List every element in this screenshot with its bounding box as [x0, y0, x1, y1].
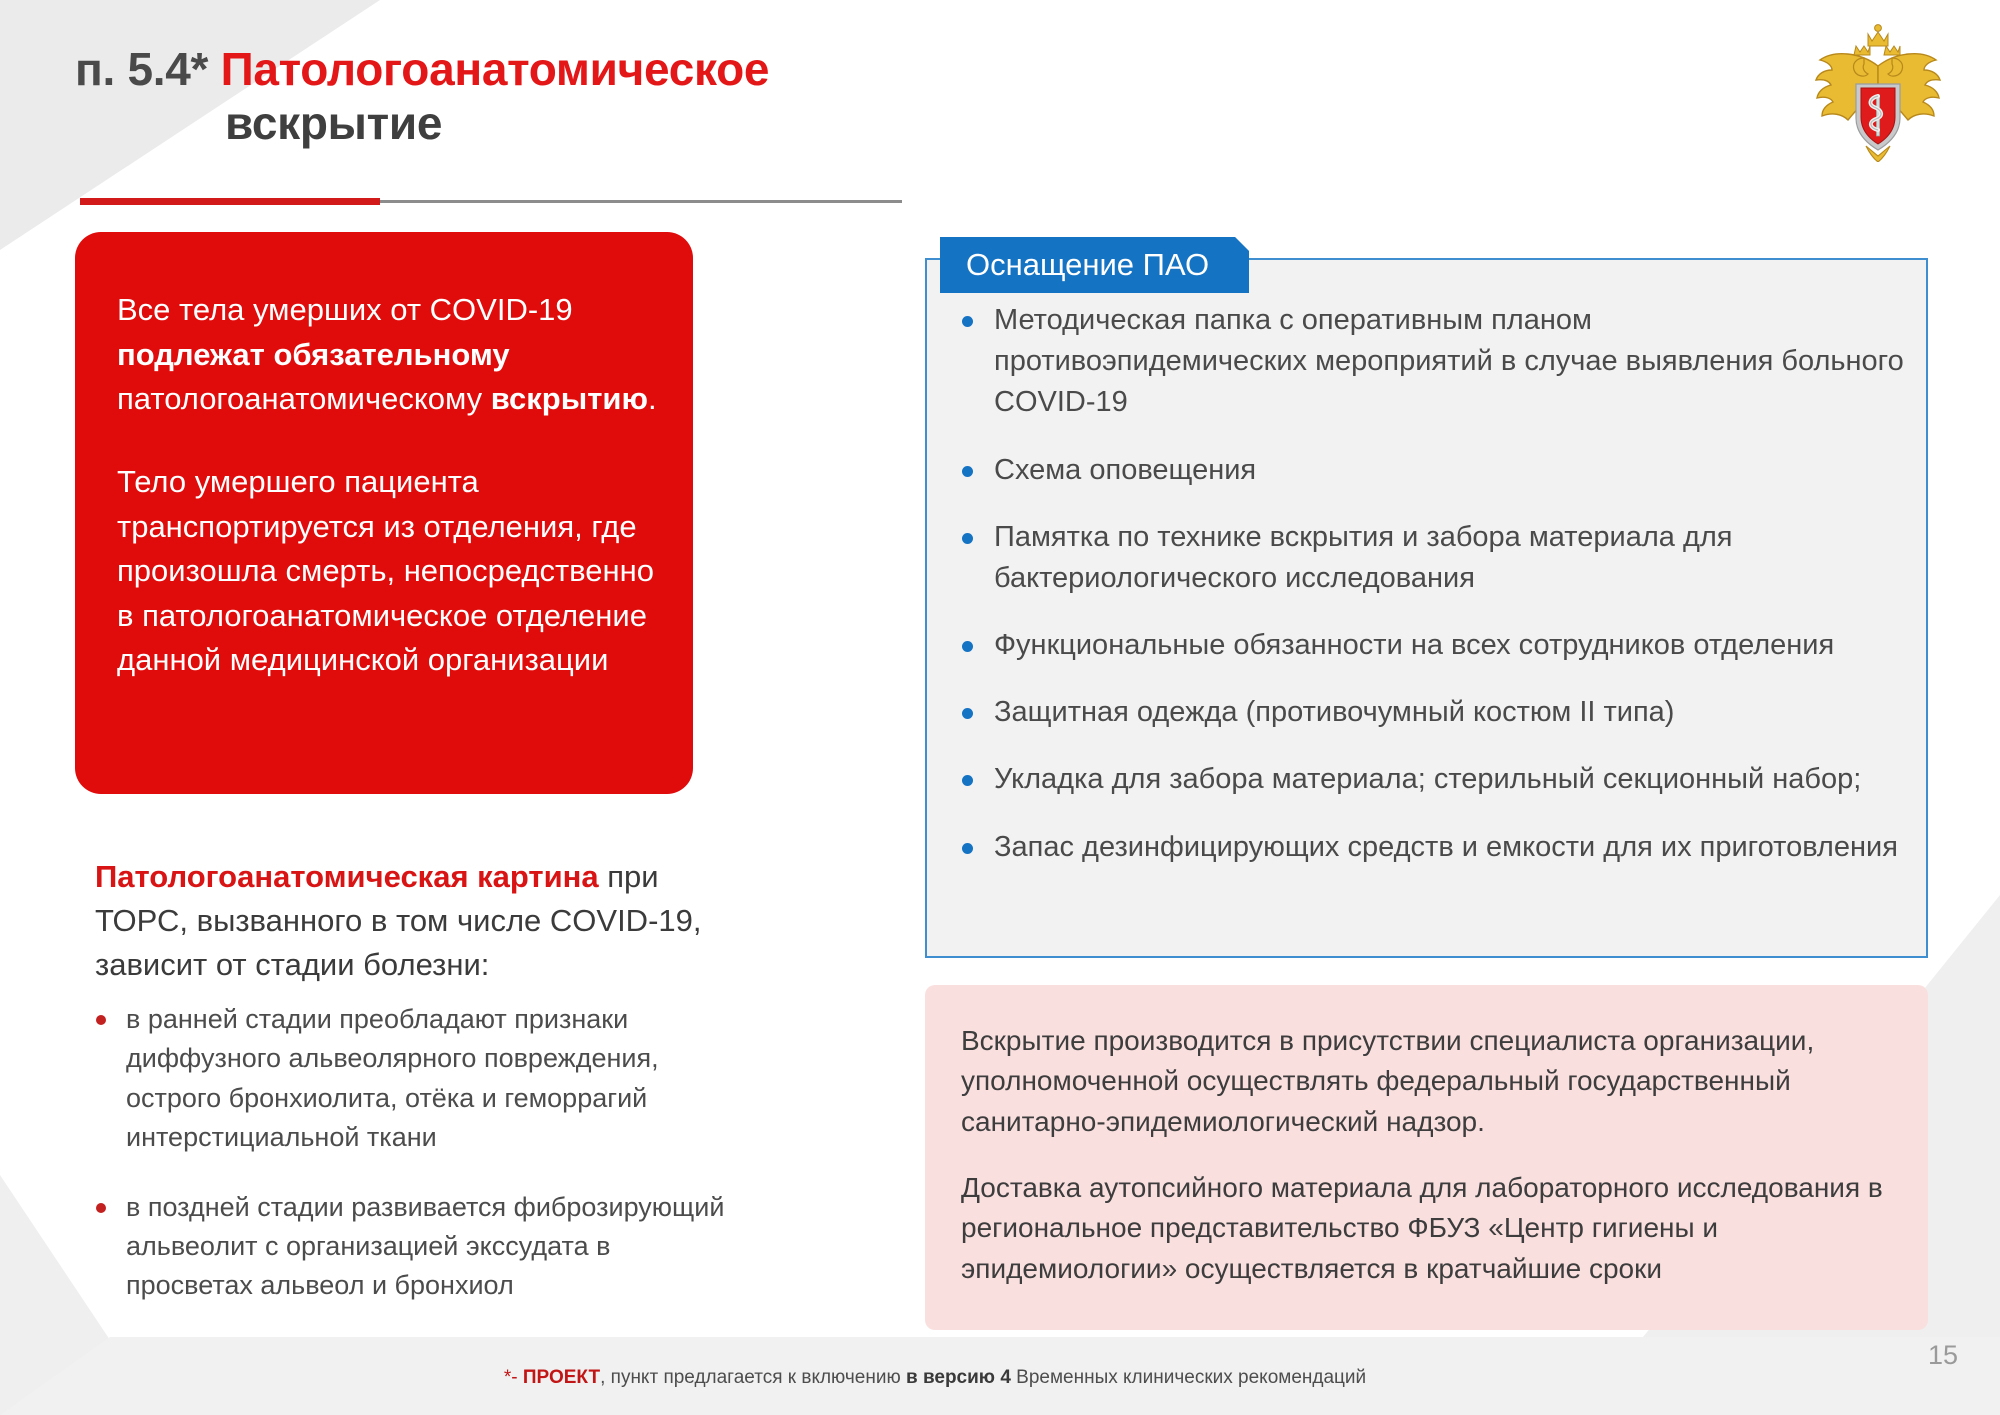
- footnote-text-mid: , пункт предлагается к включению: [600, 1367, 906, 1388]
- title-line-2: вскрытие: [225, 97, 442, 149]
- callout-text-1c: .: [648, 381, 657, 416]
- pathology-stage-list: в ранней стадии преобладают признаки диф…: [88, 1000, 728, 1336]
- page-number: 15: [1928, 1340, 1958, 1371]
- notice-paragraph: Вскрытие производится в присутствии спец…: [961, 1021, 1884, 1142]
- equipment-list: Методическая папка с оперативным планом …: [952, 300, 1912, 894]
- list-item: в поздней стадии развивается фиброзирующ…: [88, 1188, 728, 1306]
- pathology-picture-highlight: Патологоанатомическая картина: [95, 859, 599, 894]
- title-rule-grey: [380, 200, 902, 203]
- russian-federation-health-emblem-icon: [1808, 22, 1948, 162]
- list-item: Укладка для забора материала; стерильный…: [952, 759, 1912, 800]
- callout-spacer: [117, 422, 663, 460]
- callout-text-1b: патологоанатомическому: [117, 381, 491, 416]
- mandatory-autopsy-callout: Все тела умерших от COVID-19 подлежат об…: [75, 232, 693, 794]
- footnote-text-end: Временных клинических рекомендаций: [1011, 1367, 1366, 1388]
- list-item: Схема оповещения: [952, 450, 1912, 491]
- callout-text-2: Тело умершего пациента транспортируется …: [117, 464, 654, 678]
- list-item: Методическая папка с оперативным планом …: [952, 300, 1912, 424]
- list-item: Памятка по технике вскрытия и забора мат…: [952, 517, 1912, 599]
- notice-paragraph: Доставка аутопсийного материала для лабо…: [961, 1168, 1884, 1289]
- footnote-project-word: ПРОЕКТ: [523, 1367, 600, 1388]
- slide-canvas: п. 5.4* Патологоанатомическое вскрытие: [0, 0, 2000, 1415]
- equipment-panel-tab: Оснащение ПАО: [940, 237, 1249, 293]
- footnote: *- ПРОЕКТ, пункт предлагается к включени…: [0, 1367, 1870, 1389]
- title-rule-red: [80, 198, 380, 205]
- list-item: Защитная одежда (противочумный костюм II…: [952, 692, 1912, 733]
- callout-text-1a: Все тела умерших от COVID-19: [117, 292, 573, 327]
- supervision-notice-panel: Вскрытие производится в присутствии спец…: [925, 985, 1928, 1330]
- pathology-picture-heading: Патологоанатомическая картина при ТОРС, …: [95, 855, 725, 987]
- list-item: в ранней стадии преобладают признаки диф…: [88, 1000, 728, 1158]
- callout-bold-1: подлежат обязательному: [117, 337, 510, 372]
- list-item: Функциональные обязанности на всех сотру…: [952, 625, 1912, 666]
- footnote-dash: -: [511, 1367, 523, 1388]
- title-line-1: Патологоанатомическое: [221, 43, 770, 95]
- list-item: Запас дезинфицирующих средств и емкости …: [952, 827, 1912, 868]
- clause-number: п. 5.4*: [75, 43, 208, 95]
- callout-bold-2: вскрытию: [491, 381, 648, 416]
- footnote-version: в версию 4: [906, 1367, 1011, 1388]
- page-title: п. 5.4* Патологоанатомическое вскрытие: [75, 42, 975, 151]
